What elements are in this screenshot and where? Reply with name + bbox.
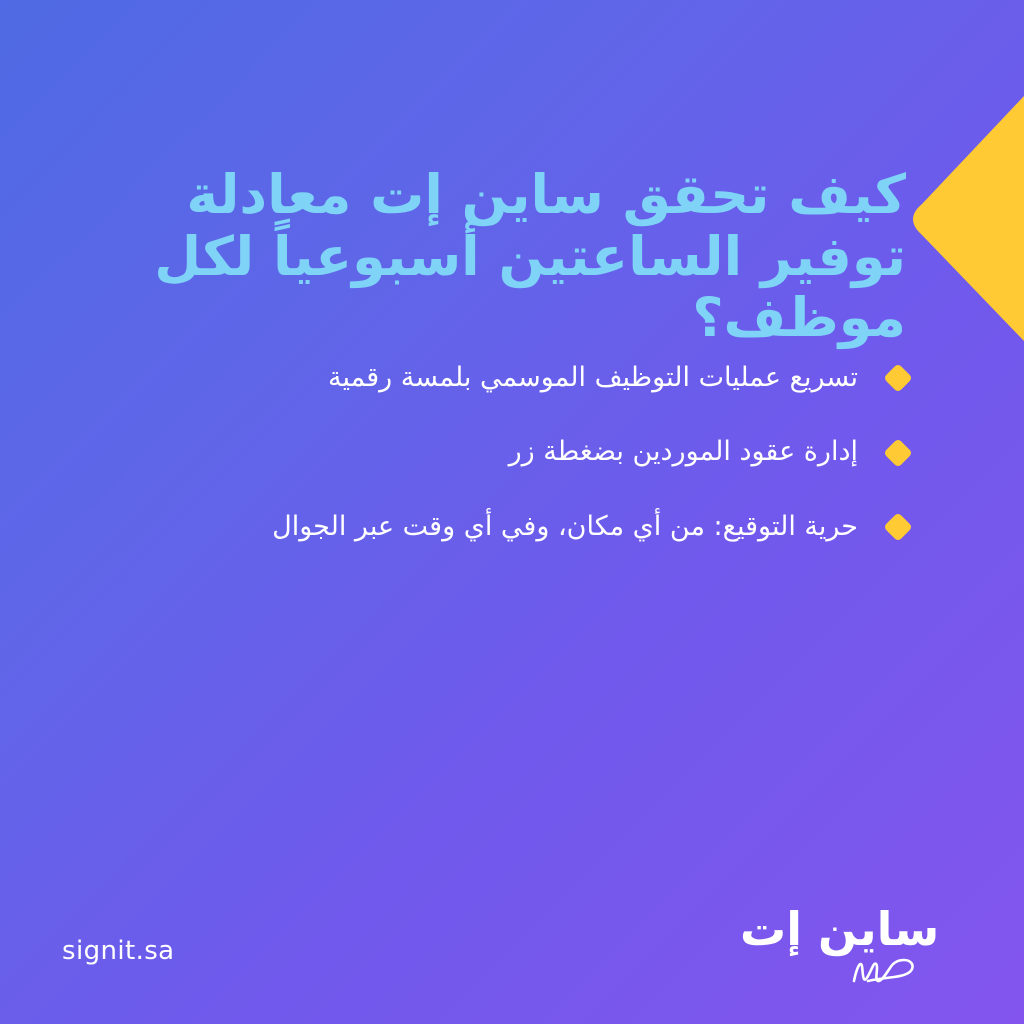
diamond-bullet-icon (882, 511, 914, 543)
list-item-label: حرية التوقيع: من أي مكان، وفي أي وقت عبر… (60, 509, 858, 545)
list-item-label: تسريع عمليات التوظيف الموسمي بلمسة رقمية (60, 360, 858, 396)
list-item: حرية التوقيع: من أي مكان، وفي أي وقت عبر… (60, 509, 914, 545)
page-title: كيف تحقق ساين إت معادلة توفير الساعتين أ… (150, 164, 906, 349)
handwritten-signature-icon (736, 954, 966, 988)
headline-line-2: توفير الساعتين أسبوعياً لكل (154, 225, 906, 288)
diamond-bullet-icon (882, 362, 914, 394)
list-item: تسريع عمليات التوظيف الموسمي بلمسة رقمية (60, 360, 914, 396)
benefits-list: تسريع عمليات التوظيف الموسمي بلمسة رقمية… (60, 360, 914, 583)
brand-logo: ساين إت (736, 906, 966, 988)
social-card: كيف تحقق ساين إت معادلة توفير الساعتين أ… (0, 0, 1024, 1024)
list-item-label: إدارة عقود الموردين بضغطة زر (60, 434, 858, 470)
diamond-bullet-icon (882, 437, 914, 469)
logo-wordmark: ساين إت (736, 906, 966, 952)
headline-line-1: كيف تحقق ساين إت معادلة (186, 163, 906, 226)
list-item: إدارة عقود الموردين بضغطة زر (60, 434, 914, 470)
headline-line-3: موظف؟ (692, 286, 906, 349)
site-url[interactable]: signit.sa (62, 936, 175, 966)
